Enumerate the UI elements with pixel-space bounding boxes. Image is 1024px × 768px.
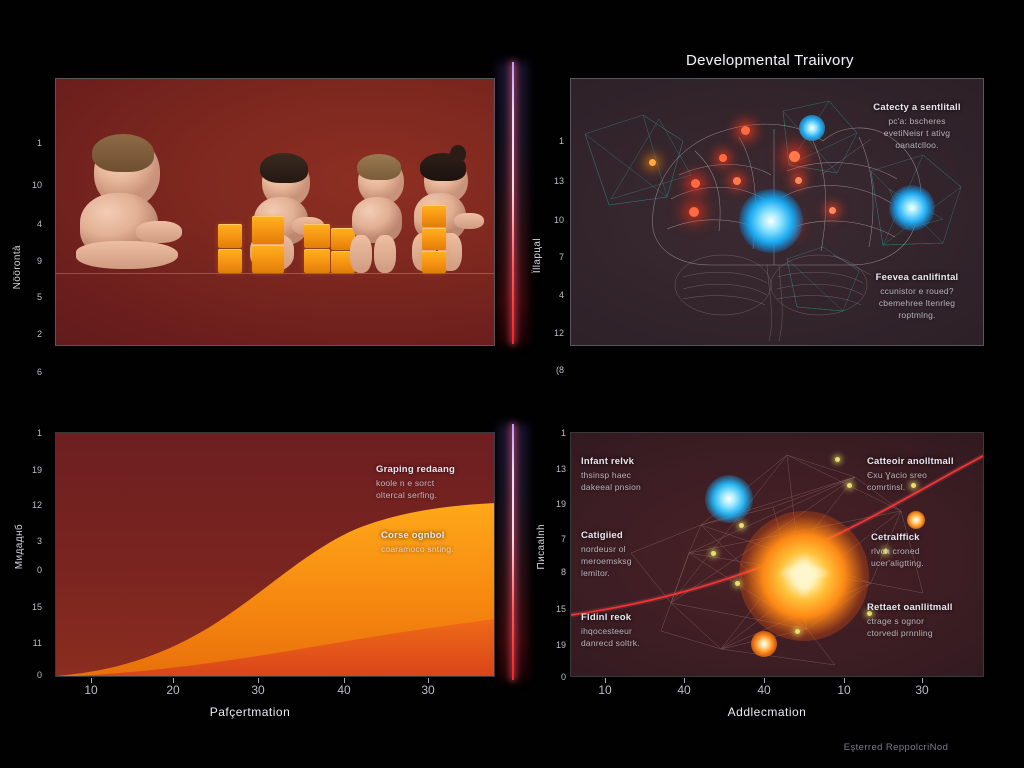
y-tick: 1 — [542, 136, 564, 146]
bottom-right-x-axis-label: Addlecmation — [672, 705, 862, 719]
toddler-blocks-panel: Nöörontà 1 10 4 9 5 2 6 — [0, 60, 500, 360]
y-tick: 1 — [544, 428, 566, 438]
annotation-block: Corse ognbol coaramoco snting. — [381, 529, 495, 555]
annotation-heading: Catecty a sentlitall — [857, 101, 977, 115]
annotation-heading: Catteoir anolltmall — [867, 455, 982, 469]
floor-line — [56, 273, 494, 274]
block — [422, 205, 446, 227]
y-tick: 7 — [544, 534, 566, 544]
child-figure-1 — [74, 137, 190, 273]
figure-canvas: Developmental Traiivory Nöörontà 1 10 4 … — [0, 0, 1024, 768]
annotation-body: ihqocesteeur danrecd soltrk. — [581, 625, 701, 650]
y-tick: 0 — [20, 565, 42, 575]
top-left-plot-area — [55, 78, 495, 346]
synapse-node-red — [691, 179, 700, 188]
y-tick: 8 — [544, 567, 566, 577]
annotation-block: Feevea canlifintal ccunistor e roued? cb… — [857, 271, 977, 322]
annotation-heading: Rettaet oanllitmall — [867, 601, 984, 615]
y-tick: 0 — [544, 672, 566, 682]
scatter-point — [795, 629, 800, 634]
annotation-body: pc'a: bscheres evetiNeisr t ativg oanatc… — [857, 115, 977, 152]
y-tick: 3 — [20, 536, 42, 546]
y-tick: 6 — [20, 367, 42, 377]
annotation-block: Rettaet oanllitmall ctrage s ognor ctorv… — [867, 601, 984, 639]
y-tick: 5 — [20, 292, 42, 302]
y-tick: 12 — [542, 328, 564, 338]
synapse-node-red — [741, 126, 750, 135]
x-tick: 40 — [664, 683, 704, 697]
annotation-body: rlvch croned ucer'aligtting. — [871, 545, 984, 570]
scatter-point — [735, 581, 740, 586]
block — [422, 251, 446, 273]
top-left-y-axis-label: Nöörontà — [12, 245, 23, 289]
bottom-left-plot-area: Graping redaang koole n e sorct oltercal… — [55, 432, 495, 677]
stacked-area-panel: Мидаднб 1 19 12 3 0 15 11 0 — [0, 420, 500, 720]
y-tick: 0 — [20, 670, 42, 680]
y-tick: 11 — [20, 638, 42, 648]
annotation-block: Fldinl reok ihqocesteeur danrecd soltrk. — [581, 611, 701, 649]
orange-cluster-node — [907, 511, 925, 529]
y-tick: 10 — [542, 215, 564, 225]
block — [218, 224, 242, 248]
annotation-body: thsinsp haec dakeeal pnsion — [581, 469, 701, 494]
y-tick: (8 — [542, 365, 564, 375]
annotation-block: Cetralffick rlvch croned ucer'aligtting. — [871, 531, 984, 569]
annotation-body: koole n e sorct oltercal serfing. — [376, 477, 491, 502]
scatter-point — [711, 551, 716, 556]
top-right-plot-area: Catecty a sentlitall pc'a: bscheres evet… — [570, 78, 984, 346]
x-tick: 30 — [902, 683, 942, 697]
annotation-heading: Catigiied — [581, 529, 701, 543]
x-tick: 10 — [585, 683, 625, 697]
block — [304, 224, 330, 248]
block — [422, 228, 446, 250]
satellite-blue-core — [889, 185, 935, 231]
y-tick: 15 — [544, 604, 566, 614]
x-tick: 10 — [71, 683, 111, 697]
synapse-node-red — [795, 177, 802, 184]
y-tick: 19 — [544, 499, 566, 509]
block — [252, 245, 284, 273]
y-tick: 1 — [20, 138, 42, 148]
block — [304, 249, 330, 273]
brain-network-panel: Ïllaрцаl 1 13 10 7 4 12 (8 — [512, 60, 1024, 360]
x-tick: 40 — [324, 683, 364, 697]
annotation-body: Єxu Ɣacio sreo comrtinsl. — [867, 469, 982, 494]
synapse-node-orange — [649, 159, 656, 166]
blue-cluster-node — [705, 475, 753, 523]
y-tick: 15 — [20, 602, 42, 612]
satellite-blue-core — [799, 115, 825, 141]
orange-cluster-node — [751, 631, 777, 657]
y-tick: 13 — [544, 464, 566, 474]
y-tick: 1 — [20, 428, 42, 438]
annotation-heading: Infant relvk — [581, 455, 701, 469]
synapse-node-red — [829, 207, 836, 214]
annotation-block: Graping redaang koole n e sorct oltercal… — [376, 463, 491, 501]
synapse-node-red — [789, 151, 800, 162]
annotation-block: Catteoir anolltmall Єxu Ɣacio sreo comrt… — [867, 455, 982, 493]
footer-caption: Eşterred ReppolcriNod — [844, 742, 949, 753]
y-tick: 10 — [20, 180, 42, 190]
y-tick: 2 — [20, 329, 42, 339]
annotation-heading: Corse ognbol — [381, 529, 495, 543]
bottom-left-y-axis-label: Мидаднб — [14, 524, 25, 569]
annotation-body: ccunistor e roued? cbemehree ltenrleg ro… — [857, 285, 977, 322]
y-tick: 19 — [544, 640, 566, 650]
y-tick: 12 — [20, 500, 42, 510]
star-burst — [775, 567, 833, 579]
block — [218, 249, 242, 273]
central-blue-core — [739, 189, 803, 253]
block — [252, 216, 284, 244]
scatter-point — [739, 523, 744, 528]
annotation-body: ctrage s ognor ctorvedi prnnling — [867, 615, 984, 640]
annotation-block: Catigiied nordeusr ol meroemsksg lemitor… — [581, 529, 701, 580]
annotation-body: coaramoco snting. — [381, 543, 495, 555]
x-tick: 30 — [238, 683, 278, 697]
annotation-heading: Cetralffick — [871, 531, 984, 545]
annotation-heading: Feevea canlifintal — [857, 271, 977, 285]
y-tick: 4 — [542, 290, 564, 300]
y-tick: 19 — [20, 465, 42, 475]
bottom-right-plot-area: Infant relvk thsinsp haec dakeeal pnsion… — [570, 432, 984, 677]
annotation-block: Catecty a sentlitall pc'a: bscheres evet… — [857, 101, 977, 152]
annotation-heading: Fldinl reok — [581, 611, 701, 625]
bottom-left-x-axis-label: Pafçertmation — [155, 705, 345, 719]
y-tick: 7 — [542, 252, 564, 262]
y-tick: 4 — [20, 219, 42, 229]
synapse-node-red — [733, 177, 741, 185]
bottom-right-y-axis-label: Писааlnh — [536, 524, 547, 569]
x-tick: 40 — [744, 683, 784, 697]
scatter-point — [847, 483, 852, 488]
annotation-block: Infant relvk thsinsp haec dakeeal pnsion — [581, 455, 701, 493]
y-tick: 13 — [542, 176, 564, 186]
x-tick: 30 — [408, 683, 448, 697]
synapse-node-red — [719, 154, 727, 162]
constellation-scatter-panel: Писааlnh 1 13 19 7 8 15 19 0 — [512, 420, 1024, 720]
annotation-body: nordeusr ol meroemsksg lemitor. — [581, 543, 701, 580]
x-tick: 20 — [153, 683, 193, 697]
y-tick: 9 — [20, 256, 42, 266]
x-tick: 10 — [824, 683, 864, 697]
synapse-node-red — [689, 207, 699, 217]
annotation-heading: Graping redaang — [376, 463, 491, 477]
scatter-point — [835, 457, 840, 462]
